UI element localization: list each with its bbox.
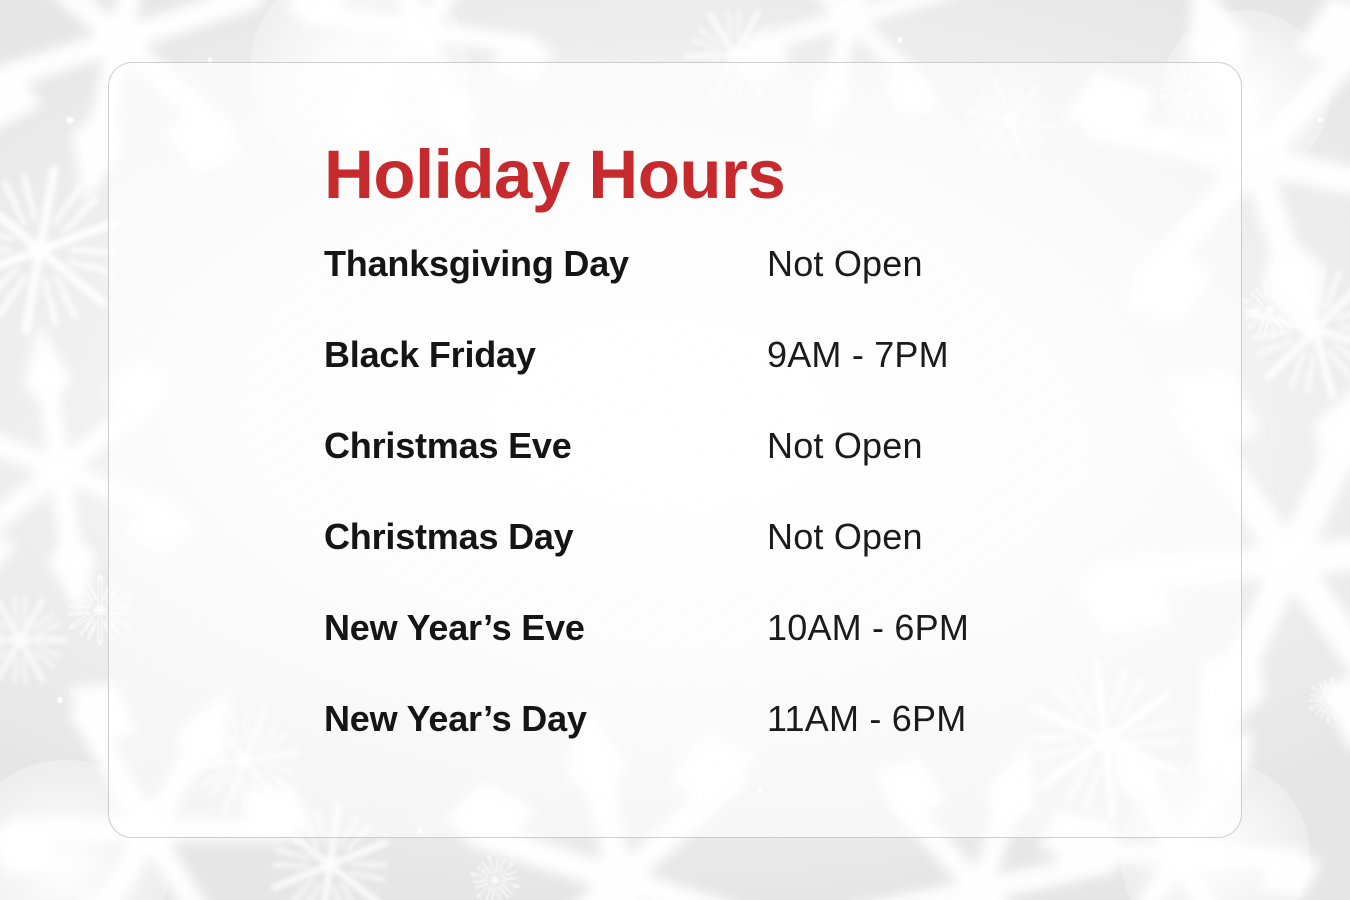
holiday-hours: Not Open	[767, 516, 923, 558]
holiday-name: New Year’s Eve	[324, 607, 767, 649]
holiday-hours-list: Thanksgiving Day Not Open Black Friday 9…	[324, 243, 1184, 789]
hours-row: Thanksgiving Day Not Open	[324, 243, 1184, 334]
card-content: Holiday Hours Thanksgiving Day Not Open …	[324, 140, 1184, 789]
hours-row: Black Friday 9AM - 7PM	[324, 334, 1184, 425]
hours-row: Christmas Day Not Open	[324, 516, 1184, 607]
holiday-name: Christmas Eve	[324, 425, 767, 467]
holiday-hours-graphic: Holiday Hours Thanksgiving Day Not Open …	[0, 0, 1350, 900]
holiday-name: Black Friday	[324, 334, 767, 376]
hours-row: New Year’s Day 11AM - 6PM	[324, 698, 1184, 789]
holiday-name: Thanksgiving Day	[324, 243, 767, 285]
holiday-hours: Not Open	[767, 425, 923, 467]
holiday-hours: 10AM - 6PM	[767, 607, 969, 649]
page-title: Holiday Hours	[324, 140, 1184, 209]
holiday-name: Christmas Day	[324, 516, 767, 558]
holiday-hours: Not Open	[767, 243, 923, 285]
holiday-hours: 11AM - 6PM	[767, 698, 966, 740]
hours-row: New Year’s Eve 10AM - 6PM	[324, 607, 1184, 698]
holiday-hours: 9AM - 7PM	[767, 334, 949, 376]
holiday-name: New Year’s Day	[324, 698, 767, 740]
hours-row: Christmas Eve Not Open	[324, 425, 1184, 516]
